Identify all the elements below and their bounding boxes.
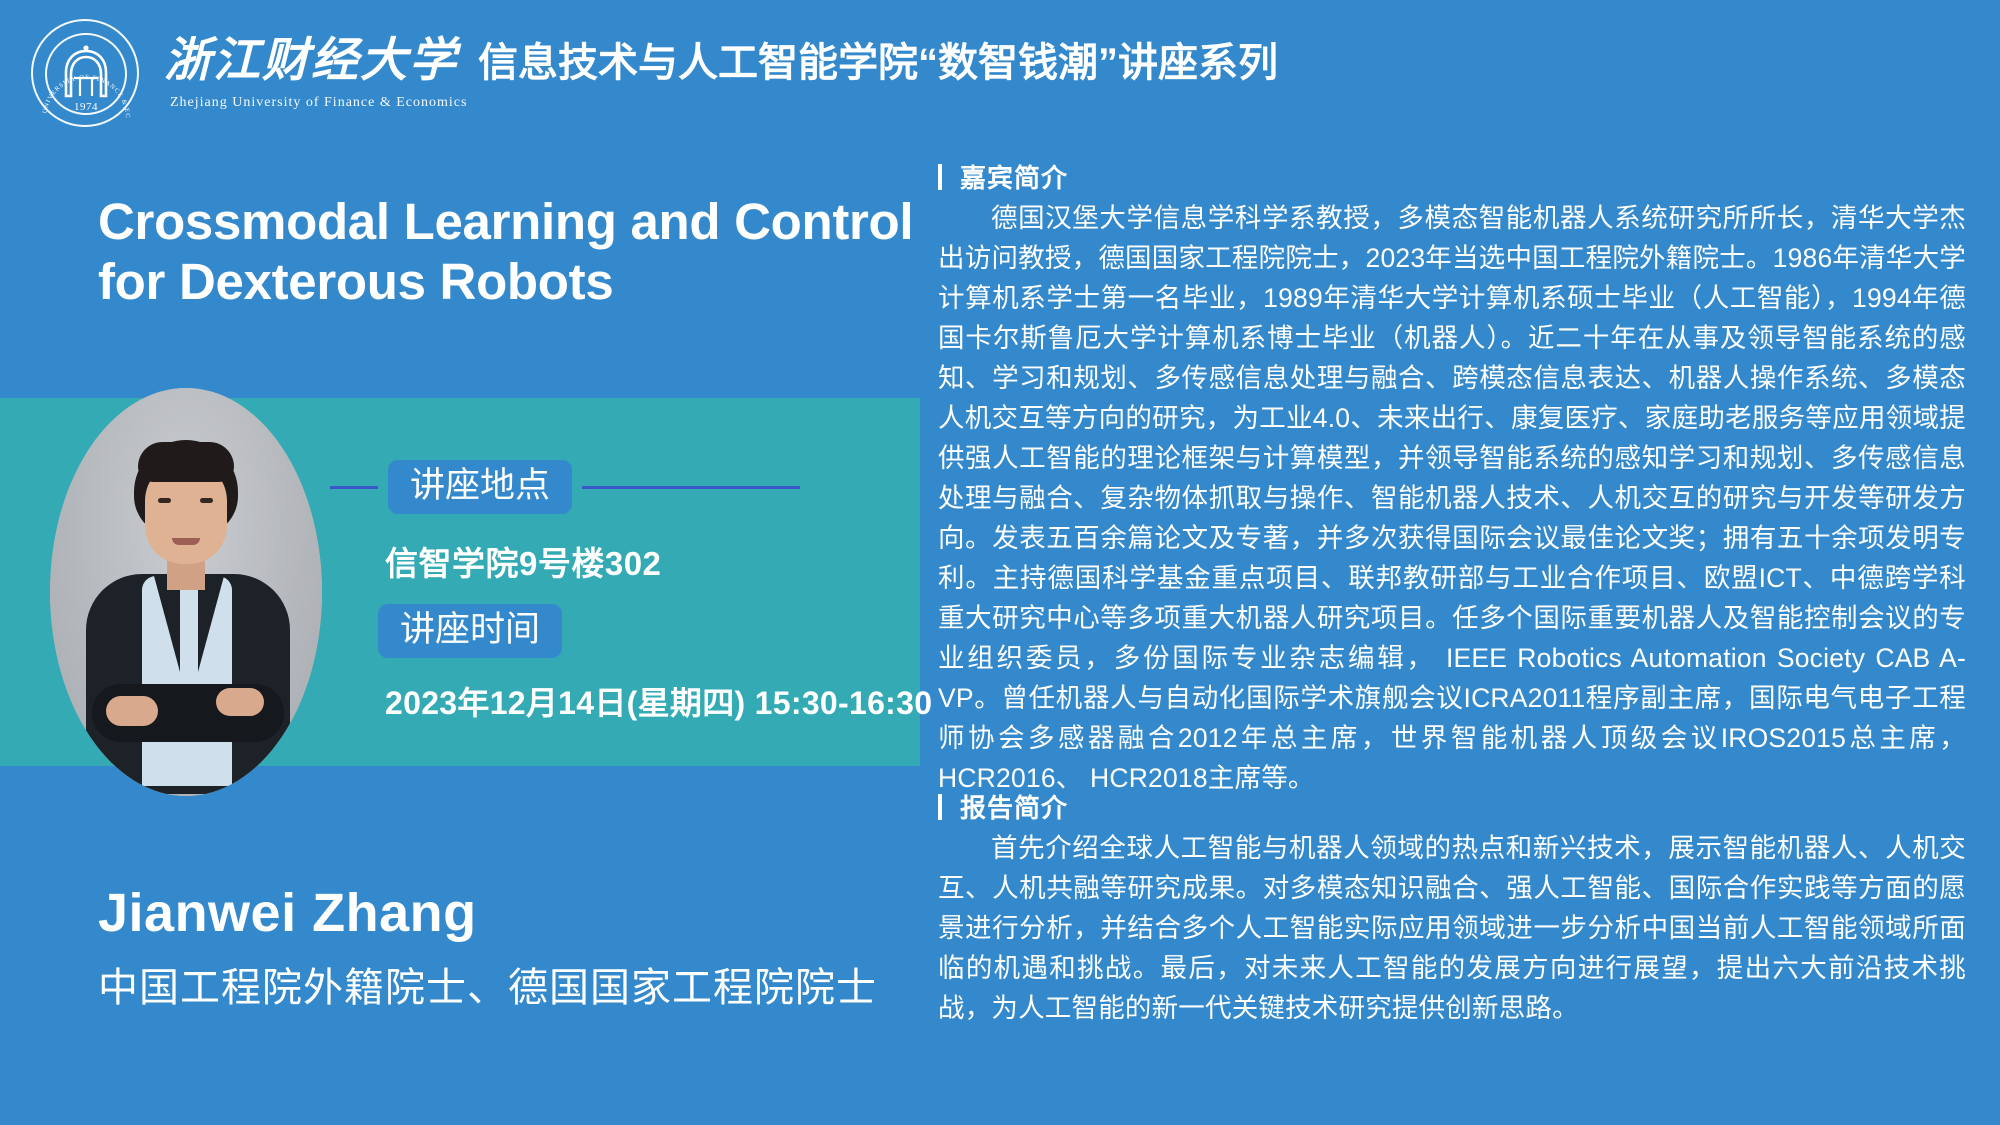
lecture-poster: ZHEJIANG UNIVERSITY OF FINANCE & ECONOMI…	[0, 0, 2000, 1125]
guest-bio-heading-label: 嘉宾简介	[960, 158, 1068, 195]
venue-heading-row: 讲座地点	[330, 460, 800, 514]
venue-rule-right	[582, 486, 800, 489]
venue-value: 信智学院9号楼302	[385, 537, 661, 585]
abstract-heading-label: 报告简介	[960, 788, 1068, 825]
abstract-heading: 报告简介	[938, 788, 1068, 825]
university-name-cn: 浙江财经大学	[164, 38, 458, 85]
poster-header: ZHEJIANG UNIVERSITY OF FINANCE & ECONOMI…	[0, 0, 2000, 148]
talk-title: Crossmodal Learning and Control for Dext…	[98, 192, 928, 312]
lecture-series-title: 信息技术与人工智能学院“数智钱潮”讲座系列	[478, 43, 1278, 83]
venue-label-chip: 讲座地点	[388, 460, 572, 514]
portrait-hand-left	[106, 696, 158, 726]
seal-year-label: 1974	[30, 101, 142, 113]
abstract-accent-bar	[938, 794, 942, 820]
guest-bio-text: 德国汉堡大学信息学科学系教授，多模态智能机器人系统研究所所长，清华大学杰出访问教…	[938, 198, 1966, 798]
portrait-hand-right	[216, 688, 264, 716]
seal-emblem-icon: ZHEJIANG UNIVERSITY OF FINANCE & ECONOMI…	[30, 18, 142, 130]
speaker-name: Jianwei Zhang	[98, 882, 477, 944]
header-text-block: 浙江财经大学 信息技术与人工智能学院“数智钱潮”讲座系列 Zhejiang Un…	[164, 38, 1278, 111]
venue-rule-left	[330, 486, 378, 489]
guest-bio-accent-bar	[938, 164, 942, 190]
portrait-mouth	[172, 538, 200, 545]
portrait-eye-left	[158, 498, 171, 503]
speaker-titles: 中国工程院外籍院士、德国国家工程院院士	[98, 955, 877, 1013]
university-name-en: Zhejiang University of Finance & Economi…	[170, 95, 1278, 111]
abstract-text: 首先介绍全球人工智能与机器人领域的热点和新兴技术，展示智能机器人、人机交互、人机…	[938, 828, 1966, 1028]
portrait-eye-right	[200, 498, 213, 503]
portrait-fringe	[138, 442, 234, 482]
time-value: 2023年12月14日(星期四) 15:30-16:30	[385, 678, 932, 724]
time-label-chip: 讲座时间	[378, 604, 562, 658]
university-seal-logo: ZHEJIANG UNIVERSITY OF FINANCE & ECONOMI…	[30, 18, 142, 130]
portrait-lapel-right	[198, 576, 224, 672]
portrait-lapel-left	[154, 576, 180, 672]
speaker-portrait	[50, 388, 322, 796]
guest-bio-heading: 嘉宾简介	[938, 158, 1068, 195]
university-name-line: 浙江财经大学 信息技术与人工智能学院“数智钱潮”讲座系列	[164, 38, 1278, 85]
